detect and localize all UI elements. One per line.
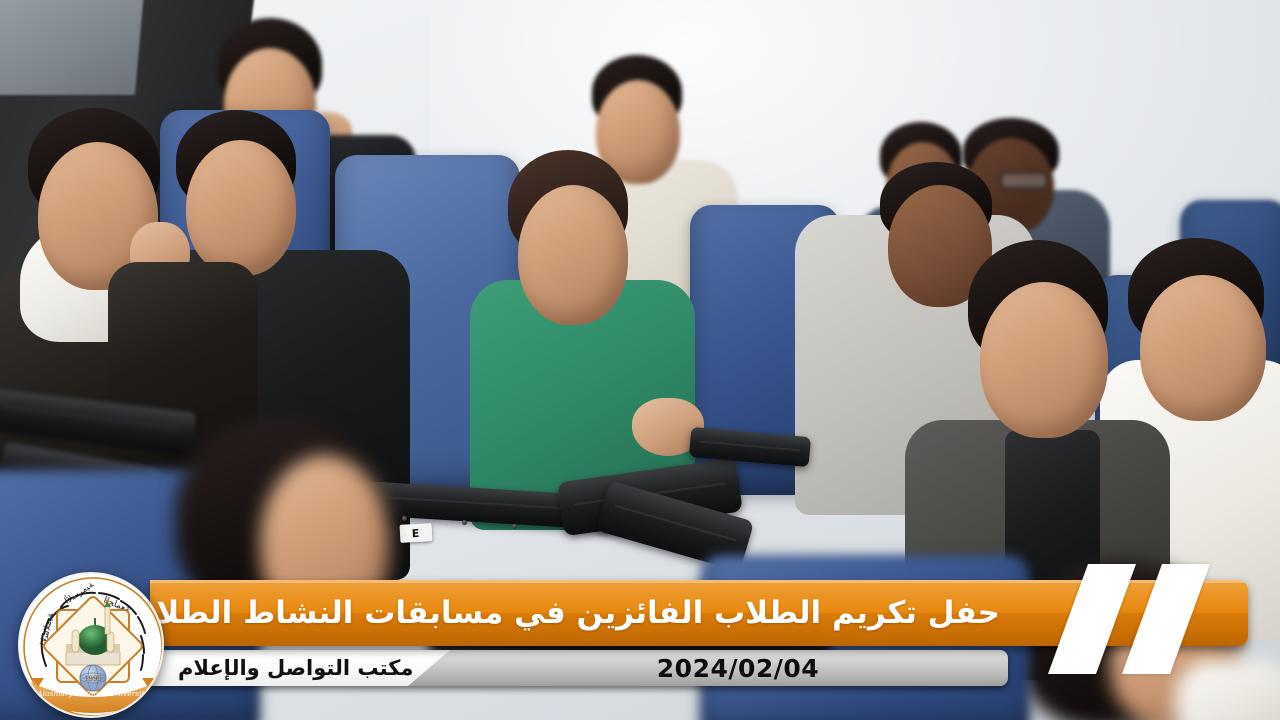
university-logo: ﺔﻴﻣﺮﺳﻷﺍ ﺔﻌﻣﺎﺠﻟﺍ ﺔﻴﻣﻼﺳﻹﺍ [18, 572, 164, 718]
armrest-rivet [512, 524, 517, 529]
armrest-rivet [462, 520, 467, 525]
department-label: مكتب التواصل والإعلام [178, 650, 430, 686]
svg-text:1995: 1995 [84, 675, 102, 683]
lower-third-graphic: مكتب التواصل والإعلام 2024/02/04 حفل تكر… [0, 580, 1280, 720]
person-left-second-head [186, 140, 296, 276]
event-date: 2024/02/04 [588, 650, 1008, 686]
armrest-rivet [402, 516, 407, 521]
svg-text:Alasmarya Islamic University: Alasmarya Islamic University [36, 689, 149, 698]
eyeglasses-icon [1000, 172, 1048, 189]
subtitle-date-bar: مكتب التواصل والإعلام 2024/02/04 [150, 650, 1008, 686]
curtain-grey-panel [0, 0, 145, 95]
screenshot-root: E مكتب التواصل والإعلام 2024/02/04 ح [0, 0, 1280, 720]
headline-text: حفل تكريم الطلاب الفائزين في مسابقات الن… [150, 580, 1000, 646]
person-center-green-head [518, 185, 628, 325]
university-seal-icon: ﺔﻴﻣﺮﺳﻷﺍ ﺔﻌﻣﺎﺠﻟﺍ ﺔﻴﻣﻼﺳﻹﺍ [20, 574, 164, 718]
person-right-blazer-head [980, 282, 1108, 438]
person-right-puffer-head [1140, 275, 1266, 421]
seat-row-label: E [400, 523, 433, 543]
